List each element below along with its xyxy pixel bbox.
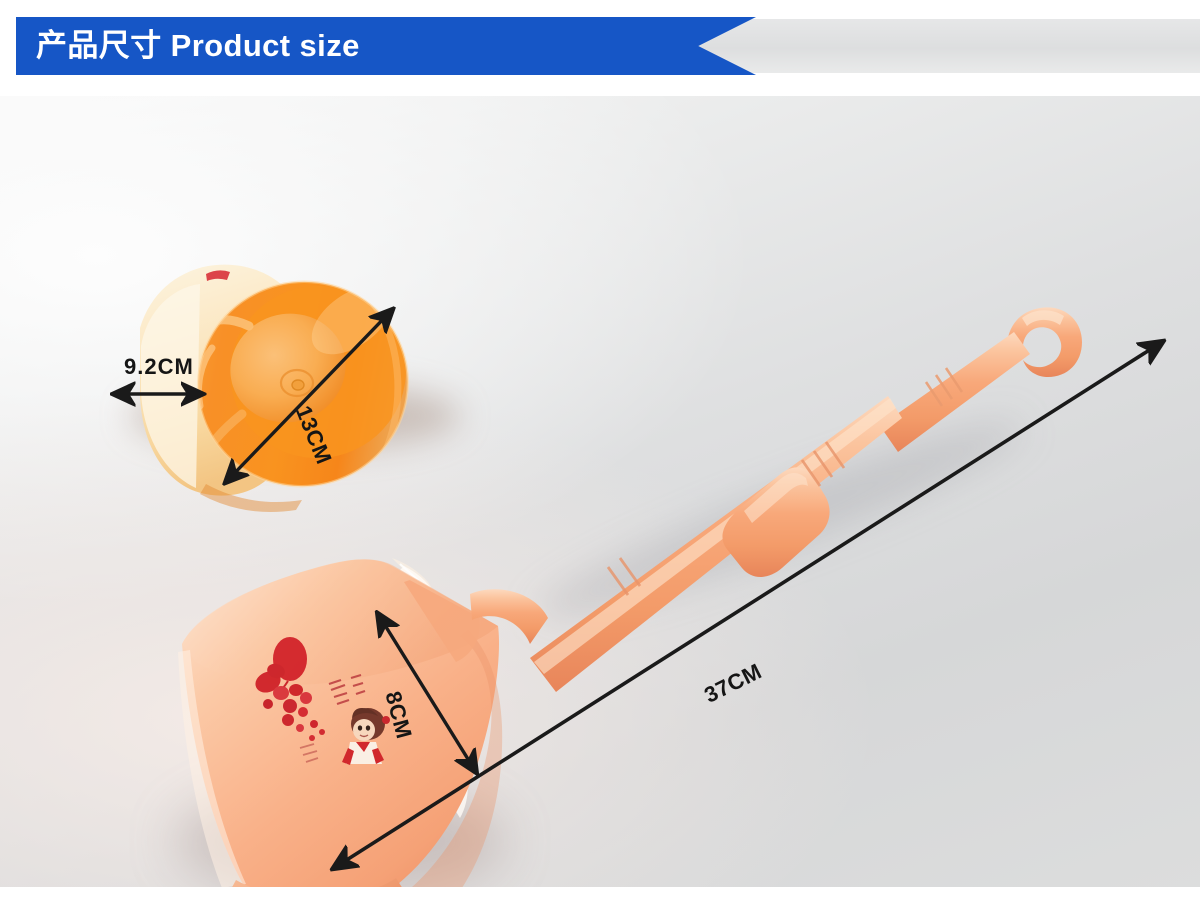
handle-neck [880, 332, 1030, 452]
handle-shaft-highlight [534, 398, 896, 674]
section-header-banner: 产品尺寸 Product size [0, 17, 1200, 75]
dimension-label-9-2cm: 9.2CM [124, 354, 194, 380]
girl-eye-right [366, 725, 370, 730]
brush-holder-photo [140, 260, 430, 512]
brush-head-photo [178, 558, 548, 893]
decal-dot-b [289, 684, 303, 696]
decal-dot-h [310, 720, 318, 728]
brush-handle-photo [530, 307, 1082, 692]
decal-dot-e [298, 707, 308, 717]
decal-dot-f [282, 714, 294, 726]
decal-dot-i [309, 735, 315, 741]
decal-dot-k [263, 699, 273, 709]
decal-dot-d [283, 699, 297, 713]
girl-eye-left [358, 725, 362, 730]
product-size-infographic: 产品尺寸 Product size [0, 0, 1200, 900]
product-photo-stage: 9.2CM 13CM 8CM 37CM [0, 96, 1200, 893]
holder-boss-center [292, 380, 304, 390]
girl-face [353, 719, 375, 741]
section-title: 产品尺寸 Product size [36, 17, 360, 75]
decal-dot-j [319, 729, 325, 735]
decal-dot-c [300, 692, 312, 704]
decal-dot-a [273, 686, 289, 700]
decal-dot-g [296, 724, 304, 732]
product-illustration [0, 96, 1200, 893]
